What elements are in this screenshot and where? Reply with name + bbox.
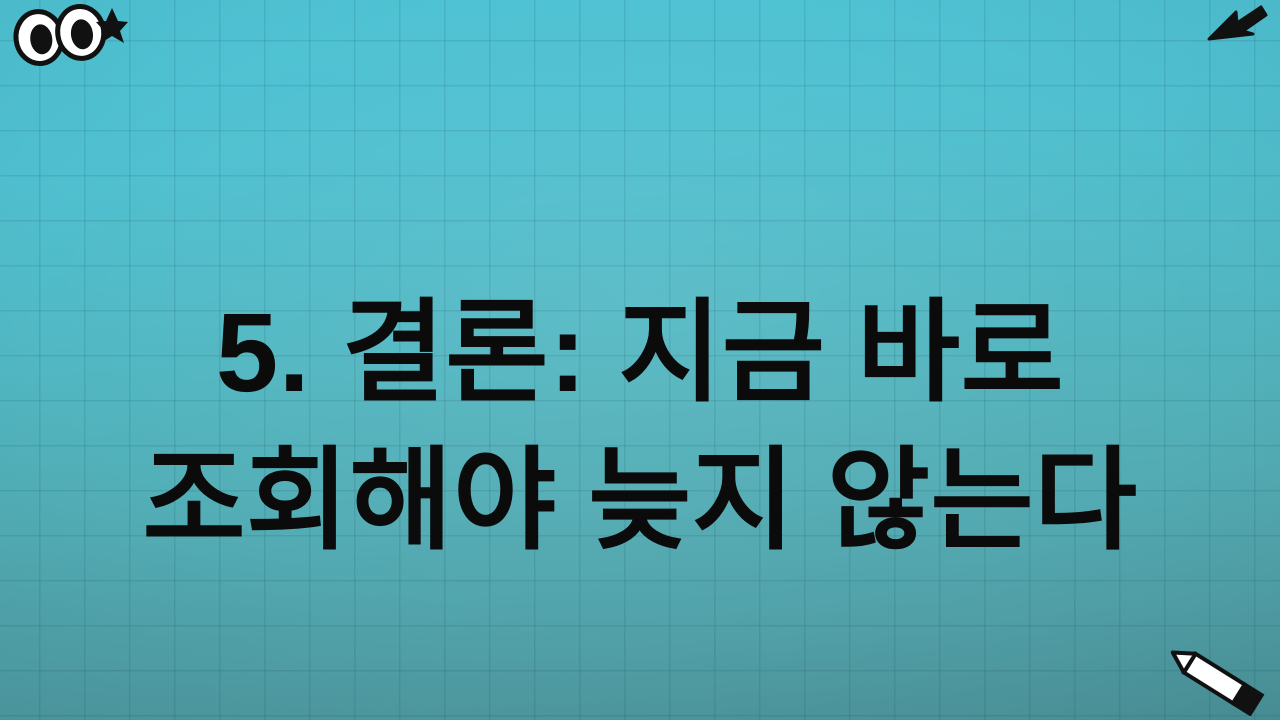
cartoon-eyes-icon <box>8 2 128 70</box>
page-title: 5. 결론: 지금 바로 조회해야 늦지 않는다 <box>0 279 1280 575</box>
arrow-cursor-icon <box>1206 4 1268 50</box>
slide-canvas: 5. 결론: 지금 바로 조회해야 늦지 않는다 <box>0 0 1280 720</box>
pencil-icon <box>1162 648 1274 716</box>
